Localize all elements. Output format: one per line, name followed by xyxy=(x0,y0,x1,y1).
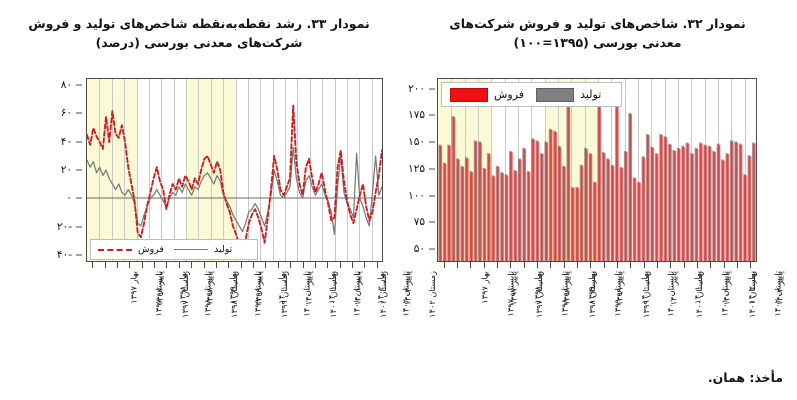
sales-bar xyxy=(612,166,615,261)
figure-33-lines-svg xyxy=(87,79,382,261)
sales-bar xyxy=(510,152,513,261)
figure-33-legend-item-sales: فروش xyxy=(98,244,164,255)
figure-32-legend-sales-label: فروش xyxy=(494,88,524,101)
sales-bar xyxy=(439,146,442,261)
x-tick-mark xyxy=(524,262,525,268)
x-tick-mark xyxy=(604,262,605,268)
figure-33-title-line2: شرکت‌های معدنی بورسی (درصد) xyxy=(8,33,390,52)
x-tick-mark xyxy=(537,262,538,268)
y-tick-label: ۱۲۵ xyxy=(408,163,425,175)
x-tick-mark xyxy=(617,262,618,268)
figure-32-title-line2: معدنی بورسی (۱۳۹۵=۱۰۰) xyxy=(406,33,789,52)
sales-bar xyxy=(581,166,584,261)
figure-page: نمودار ۳۲. شاخص‌های تولید و فروش شرکت‌ها… xyxy=(0,0,797,400)
x-tick-label: بهار ۱۴۰۱ xyxy=(693,271,703,304)
y-tick-label: ۵۰ xyxy=(414,243,425,255)
sales-bar xyxy=(448,146,451,261)
x-tick-mark xyxy=(710,262,711,268)
figure-32-legend-production-label: تولید xyxy=(580,88,601,101)
sales-bar xyxy=(665,137,668,261)
figure-32-x-labels: بهار ۱۳۹۷تابستان ۱۳۹۷پاییز ۱۳۹۷زمستان ۱۳… xyxy=(437,269,757,349)
y-tick-label: ۸۰ xyxy=(61,79,72,91)
y-tick-label: ۰ xyxy=(66,192,72,204)
x-tick-label: پاییز ۱۴۰۲ xyxy=(775,271,785,305)
y-tick-mark xyxy=(429,168,435,169)
sales-bar xyxy=(656,154,659,261)
x-tick-mark xyxy=(737,262,738,268)
x-tick-mark xyxy=(750,262,751,268)
sales-bar xyxy=(475,141,478,261)
sales-dashed-line-swatch-icon xyxy=(98,249,132,251)
sales-bar xyxy=(528,172,531,261)
sales-bar xyxy=(607,159,610,261)
x-tick-mark xyxy=(241,262,242,268)
x-tick-mark xyxy=(444,262,445,268)
production-growth-line xyxy=(87,148,382,235)
sales-bar xyxy=(532,139,535,261)
sales-bar xyxy=(453,117,456,261)
y-tick-label: ۱۷۵ xyxy=(408,109,425,121)
x-tick-mark xyxy=(484,262,485,268)
x-tick-label: پاییز ۱۴۰۱ xyxy=(353,271,363,305)
sales-bar xyxy=(749,156,752,261)
x-tick-mark xyxy=(697,262,698,268)
x-tick-label: پاییز ۱۴۰۲ xyxy=(402,271,412,305)
sales-bar xyxy=(559,147,562,261)
sales-bar xyxy=(541,154,544,261)
x-tick-mark xyxy=(191,262,192,268)
y-tick-label: -۲۰ xyxy=(57,221,72,233)
sales-bar xyxy=(585,149,588,261)
y-tick-mark xyxy=(76,170,82,171)
x-tick-label: بهار ۱۳۹۸ xyxy=(533,271,543,304)
sales-bar xyxy=(638,183,641,261)
production-bar-swatch-icon xyxy=(536,88,574,102)
sales-bar xyxy=(669,145,672,261)
y-tick-mark xyxy=(429,88,435,89)
sales-bar xyxy=(634,178,637,261)
sales-bar xyxy=(484,169,487,261)
x-tick-mark xyxy=(315,262,316,268)
y-tick-label: ۲۰ xyxy=(61,164,72,176)
x-tick-mark xyxy=(724,262,725,268)
sales-bar xyxy=(722,160,725,261)
sales-bar xyxy=(523,149,526,261)
sales-bar xyxy=(444,164,447,261)
y-tick-label: ۱۰۰ xyxy=(408,190,425,202)
x-tick-label: بهار ۱۴۰۲ xyxy=(376,271,386,304)
sales-bar xyxy=(753,144,756,261)
sales-bar xyxy=(492,176,495,261)
x-tick-mark xyxy=(684,262,685,268)
figure-33-x-ticks xyxy=(86,262,383,269)
x-tick-label: پاییز ۱۳۹۹ xyxy=(615,271,625,305)
x-tick-label: بهار ۱۳۹۷ xyxy=(128,271,138,304)
sales-bar xyxy=(726,154,729,261)
sales-bar xyxy=(590,154,593,261)
sales-bar xyxy=(744,175,747,261)
x-tick-mark xyxy=(105,262,106,268)
sales-bar xyxy=(550,130,553,261)
y-tick-mark xyxy=(429,222,435,223)
figure-33-title: نمودار ۳۳. رشد نقطه‌به‌نقطه شاخص‌های تول… xyxy=(8,14,390,53)
sales-bar xyxy=(603,153,606,261)
x-tick-mark xyxy=(142,262,143,268)
sales-bar xyxy=(576,188,579,261)
sales-bar xyxy=(598,87,601,261)
sales-bar xyxy=(457,159,460,261)
x-tick-mark xyxy=(228,262,229,268)
x-tick-label: بهار ۱۴۰۲ xyxy=(746,271,756,304)
sales-bar xyxy=(629,114,632,261)
sales-bar-swatch-icon xyxy=(450,88,488,102)
x-tick-mark xyxy=(352,262,353,268)
y-tick-label: -۴۰ xyxy=(57,249,72,261)
sales-bar xyxy=(616,91,619,261)
x-tick-mark xyxy=(265,262,266,268)
sales-bar xyxy=(563,167,566,261)
x-tick-mark xyxy=(92,262,93,268)
x-tick-mark xyxy=(564,262,565,268)
x-tick-mark xyxy=(630,262,631,268)
x-tick-mark xyxy=(510,262,511,268)
x-tick-mark xyxy=(590,262,591,268)
figure-32-title-line1: نمودار ۳۲. شاخص‌های تولید و فروش شرکت‌ها… xyxy=(406,14,789,33)
sales-bar xyxy=(488,154,491,261)
y-tick-mark xyxy=(76,85,82,86)
figure-33-plot-area xyxy=(86,78,383,262)
y-tick-mark xyxy=(76,226,82,227)
x-tick-mark xyxy=(377,262,378,268)
sales-bar xyxy=(660,135,663,261)
x-tick-label: پاییز ۱۳۹۸ xyxy=(204,271,214,305)
x-tick-mark xyxy=(470,262,471,268)
sales-bar xyxy=(461,167,464,261)
sales-bar xyxy=(691,154,694,261)
figure-32-title: نمودار ۳۲. شاخص‌های تولید و فروش شرکت‌ها… xyxy=(406,14,789,53)
x-tick-label: بهار ۱۳۹۹ xyxy=(227,271,237,304)
sales-bar xyxy=(470,172,473,261)
figure-33-title-line2-main: شرکت‌های معدنی بورسی xyxy=(144,35,302,50)
sales-bar xyxy=(506,175,509,261)
y-tick-mark xyxy=(429,249,435,250)
figure-32-x-ticks xyxy=(437,262,757,269)
sales-bar xyxy=(466,158,469,261)
x-tick-mark xyxy=(179,262,180,268)
y-tick-mark xyxy=(429,195,435,196)
y-tick-label: ۷۵ xyxy=(414,216,425,228)
x-tick-label: پاییز ۱۴۰۰ xyxy=(668,271,678,305)
figure-33-legend-production-label: تولید xyxy=(214,244,232,255)
y-tick-label: ۶۰ xyxy=(61,107,72,119)
x-tick-mark xyxy=(577,262,578,268)
sales-bar xyxy=(501,173,504,261)
x-tick-label: بهار ۱۴۰۰ xyxy=(277,271,287,304)
figure-33-x-labels: بهار ۱۳۹۷تابستان ۱۳۹۷پاییز ۱۳۹۷زمستان ۱۳… xyxy=(86,269,383,349)
y-tick-mark xyxy=(429,115,435,116)
y-tick-label: ۲۰۰ xyxy=(408,83,425,95)
x-tick-label: بهار ۱۴۰۱ xyxy=(326,271,336,304)
x-tick-label: پاییز ۱۳۹۷ xyxy=(155,271,165,305)
x-tick-label: بهار ۱۴۰۰ xyxy=(640,271,650,304)
x-tick-label: پاییز ۱۴۰۱ xyxy=(721,271,731,305)
x-tick-label: بهار ۱۳۹۹ xyxy=(586,271,596,304)
y-tick-mark xyxy=(429,142,435,143)
y-tick-label: ۴۰ xyxy=(61,136,72,148)
sales-bar xyxy=(678,149,681,261)
figure-33-title-unit: (درصد) xyxy=(96,35,140,50)
y-tick-mark xyxy=(76,254,82,255)
sales-bar xyxy=(735,142,738,261)
sales-bar xyxy=(682,147,685,261)
y-tick-label: ۱۵۰ xyxy=(408,136,425,148)
x-tick-mark xyxy=(457,262,458,268)
sales-bar xyxy=(545,142,548,261)
x-tick-mark xyxy=(364,262,365,268)
figure-32-legend-item-sales: فروش xyxy=(450,88,524,102)
sales-bar xyxy=(625,152,628,261)
x-tick-label: بهار ۱۳۹۷ xyxy=(480,271,490,304)
sales-bar xyxy=(554,132,557,261)
x-tick-mark xyxy=(129,262,130,268)
x-tick-label: زمستان ۱۴۰۲ xyxy=(427,271,437,318)
x-tick-mark xyxy=(204,262,205,268)
sales-bar xyxy=(673,151,676,261)
sales-bar xyxy=(519,159,522,261)
figure-33-y-axis: ۸۰۶۰۴۰۲۰۰-۲۰-۴۰ xyxy=(26,78,82,262)
sales-bar xyxy=(620,168,623,261)
figure-33-legend-sales-label: فروش xyxy=(138,244,164,255)
x-tick-mark xyxy=(644,262,645,268)
x-tick-mark xyxy=(327,262,328,268)
x-tick-mark xyxy=(670,262,671,268)
sales-bar xyxy=(479,142,482,261)
x-tick-mark xyxy=(497,262,498,268)
y-tick-mark xyxy=(76,198,82,199)
y-tick-mark xyxy=(76,141,82,142)
sales-bar xyxy=(651,148,654,261)
x-tick-mark xyxy=(253,262,254,268)
x-tick-mark xyxy=(340,262,341,268)
figure-33-title-line1: نمودار ۳۳. رشد نقطه‌به‌نقطه شاخص‌های تول… xyxy=(8,14,390,33)
x-tick-mark xyxy=(278,262,279,268)
sales-bar xyxy=(537,141,540,261)
sales-bar xyxy=(704,146,707,261)
sales-bar xyxy=(643,157,646,261)
figure-32-legend-item-production: تولید xyxy=(536,88,601,102)
x-tick-label: پاییز ۱۴۰۰ xyxy=(303,271,313,305)
x-tick-mark xyxy=(657,262,658,268)
x-tick-label: پاییز ۱۳۹۸ xyxy=(561,271,571,305)
x-tick-mark xyxy=(117,262,118,268)
sales-bar xyxy=(740,145,743,261)
sales-bar xyxy=(647,135,650,261)
sales-bar xyxy=(709,147,712,261)
sales-bar xyxy=(696,149,699,261)
sales-bar xyxy=(572,188,575,261)
sales-bar xyxy=(700,144,703,261)
sales-bar xyxy=(731,141,734,261)
x-tick-label: پاییز ۱۳۹۹ xyxy=(254,271,264,305)
x-tick-mark xyxy=(303,262,304,268)
sales-bar xyxy=(497,167,500,261)
x-tick-mark xyxy=(166,262,167,268)
sales-bar xyxy=(687,144,690,261)
x-tick-label: بهار ۱۳۹۸ xyxy=(178,271,188,304)
sales-bar xyxy=(567,96,570,261)
sales-growth-line xyxy=(87,106,382,252)
sales-bar xyxy=(594,183,597,261)
x-tick-mark xyxy=(154,262,155,268)
sales-bar xyxy=(514,171,517,261)
production-solid-line-swatch-icon xyxy=(174,249,208,250)
figure-32-legend: فروش تولید xyxy=(441,82,622,107)
sales-bar xyxy=(718,145,721,261)
sales-bar xyxy=(713,152,716,261)
figure-33-legend: فروش تولید xyxy=(90,239,258,260)
figure-33-legend-item-production: تولید xyxy=(174,244,232,255)
x-tick-mark xyxy=(550,262,551,268)
x-tick-mark xyxy=(216,262,217,268)
source-note: مأخذ: همان. xyxy=(708,370,783,385)
y-tick-mark xyxy=(76,113,82,114)
x-tick-label: پاییز ۱۳۹۷ xyxy=(508,271,518,305)
x-tick-mark xyxy=(290,262,291,268)
